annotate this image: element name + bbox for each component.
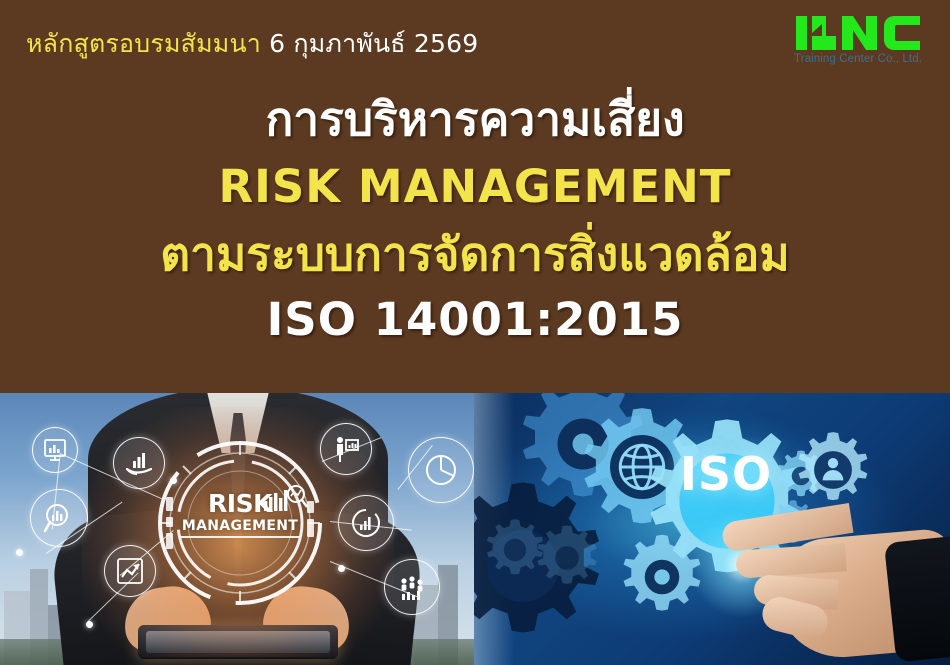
risk-management-hud: RISK MANAGEMENT xyxy=(156,439,324,607)
knc-logo-subtitle: Training Center Co., Ltd. xyxy=(794,53,922,65)
tablet-device xyxy=(138,625,338,659)
title-block: การบริหารความเสี่ยง RISK MANAGEMENT ตามร… xyxy=(0,88,950,388)
gauge-bar-icon xyxy=(338,495,394,551)
pie-chart-icon xyxy=(408,437,474,503)
connector-dot xyxy=(86,621,93,628)
knc-wordmark-icon xyxy=(796,14,920,52)
presenter-person-icon xyxy=(320,423,372,475)
title-line-standard: ISO 14001:2015 xyxy=(0,297,950,342)
hud-management-label: MANAGEMENT xyxy=(156,519,324,533)
gear-icon xyxy=(614,529,710,625)
connector-dot xyxy=(170,477,177,484)
course-prefix-text: หลักสูตรอบรมสัมมนา xyxy=(26,29,261,58)
magnifier-analytics-icon xyxy=(30,489,88,547)
title-line-thai-sub: ตามระบบการจัดการสิ่งแวดล้อม xyxy=(0,231,950,277)
photo-strip: RISK MANAGEMENT xyxy=(0,393,950,665)
banner-header: หลักสูตรอบรมสัมมนา 6 กุมภาพันธ์ 2569 Tra… xyxy=(0,0,950,88)
connector-dot xyxy=(16,549,23,556)
team-network-icon xyxy=(384,559,440,615)
course-date-text: 6 กุมภาพันธ์ 2569 xyxy=(269,29,478,58)
promo-banner: หลักสูตรอบรมสัมมนา 6 กุมภาพันธ์ 2569 Tra… xyxy=(0,0,950,665)
line-chart-arrow-icon xyxy=(104,545,156,597)
bar-chart-magnifier-icon xyxy=(264,485,308,511)
photo-iso-gears: ISO xyxy=(474,393,950,665)
title-line-english: RISK MANAGEMENT xyxy=(0,164,950,209)
connector-dot xyxy=(338,565,345,572)
pointing-hand-icon xyxy=(706,505,950,655)
suit-cuff xyxy=(884,535,950,662)
bar-chart-board-icon xyxy=(32,427,78,473)
hud-underline xyxy=(181,536,299,538)
gear-icon xyxy=(530,521,604,595)
photo-risk-management: RISK MANAGEMENT xyxy=(0,393,474,665)
growth-chart-hand-icon xyxy=(113,437,165,489)
title-line-thai-main: การบริหารความเสี่ยง xyxy=(0,96,950,142)
knc-logo[interactable]: Training Center Co., Ltd. xyxy=(794,14,922,72)
iso-label: ISO xyxy=(666,447,786,501)
course-date-line: หลักสูตรอบรมสัมมนา 6 กุมภาพันธ์ 2569 xyxy=(26,24,478,64)
